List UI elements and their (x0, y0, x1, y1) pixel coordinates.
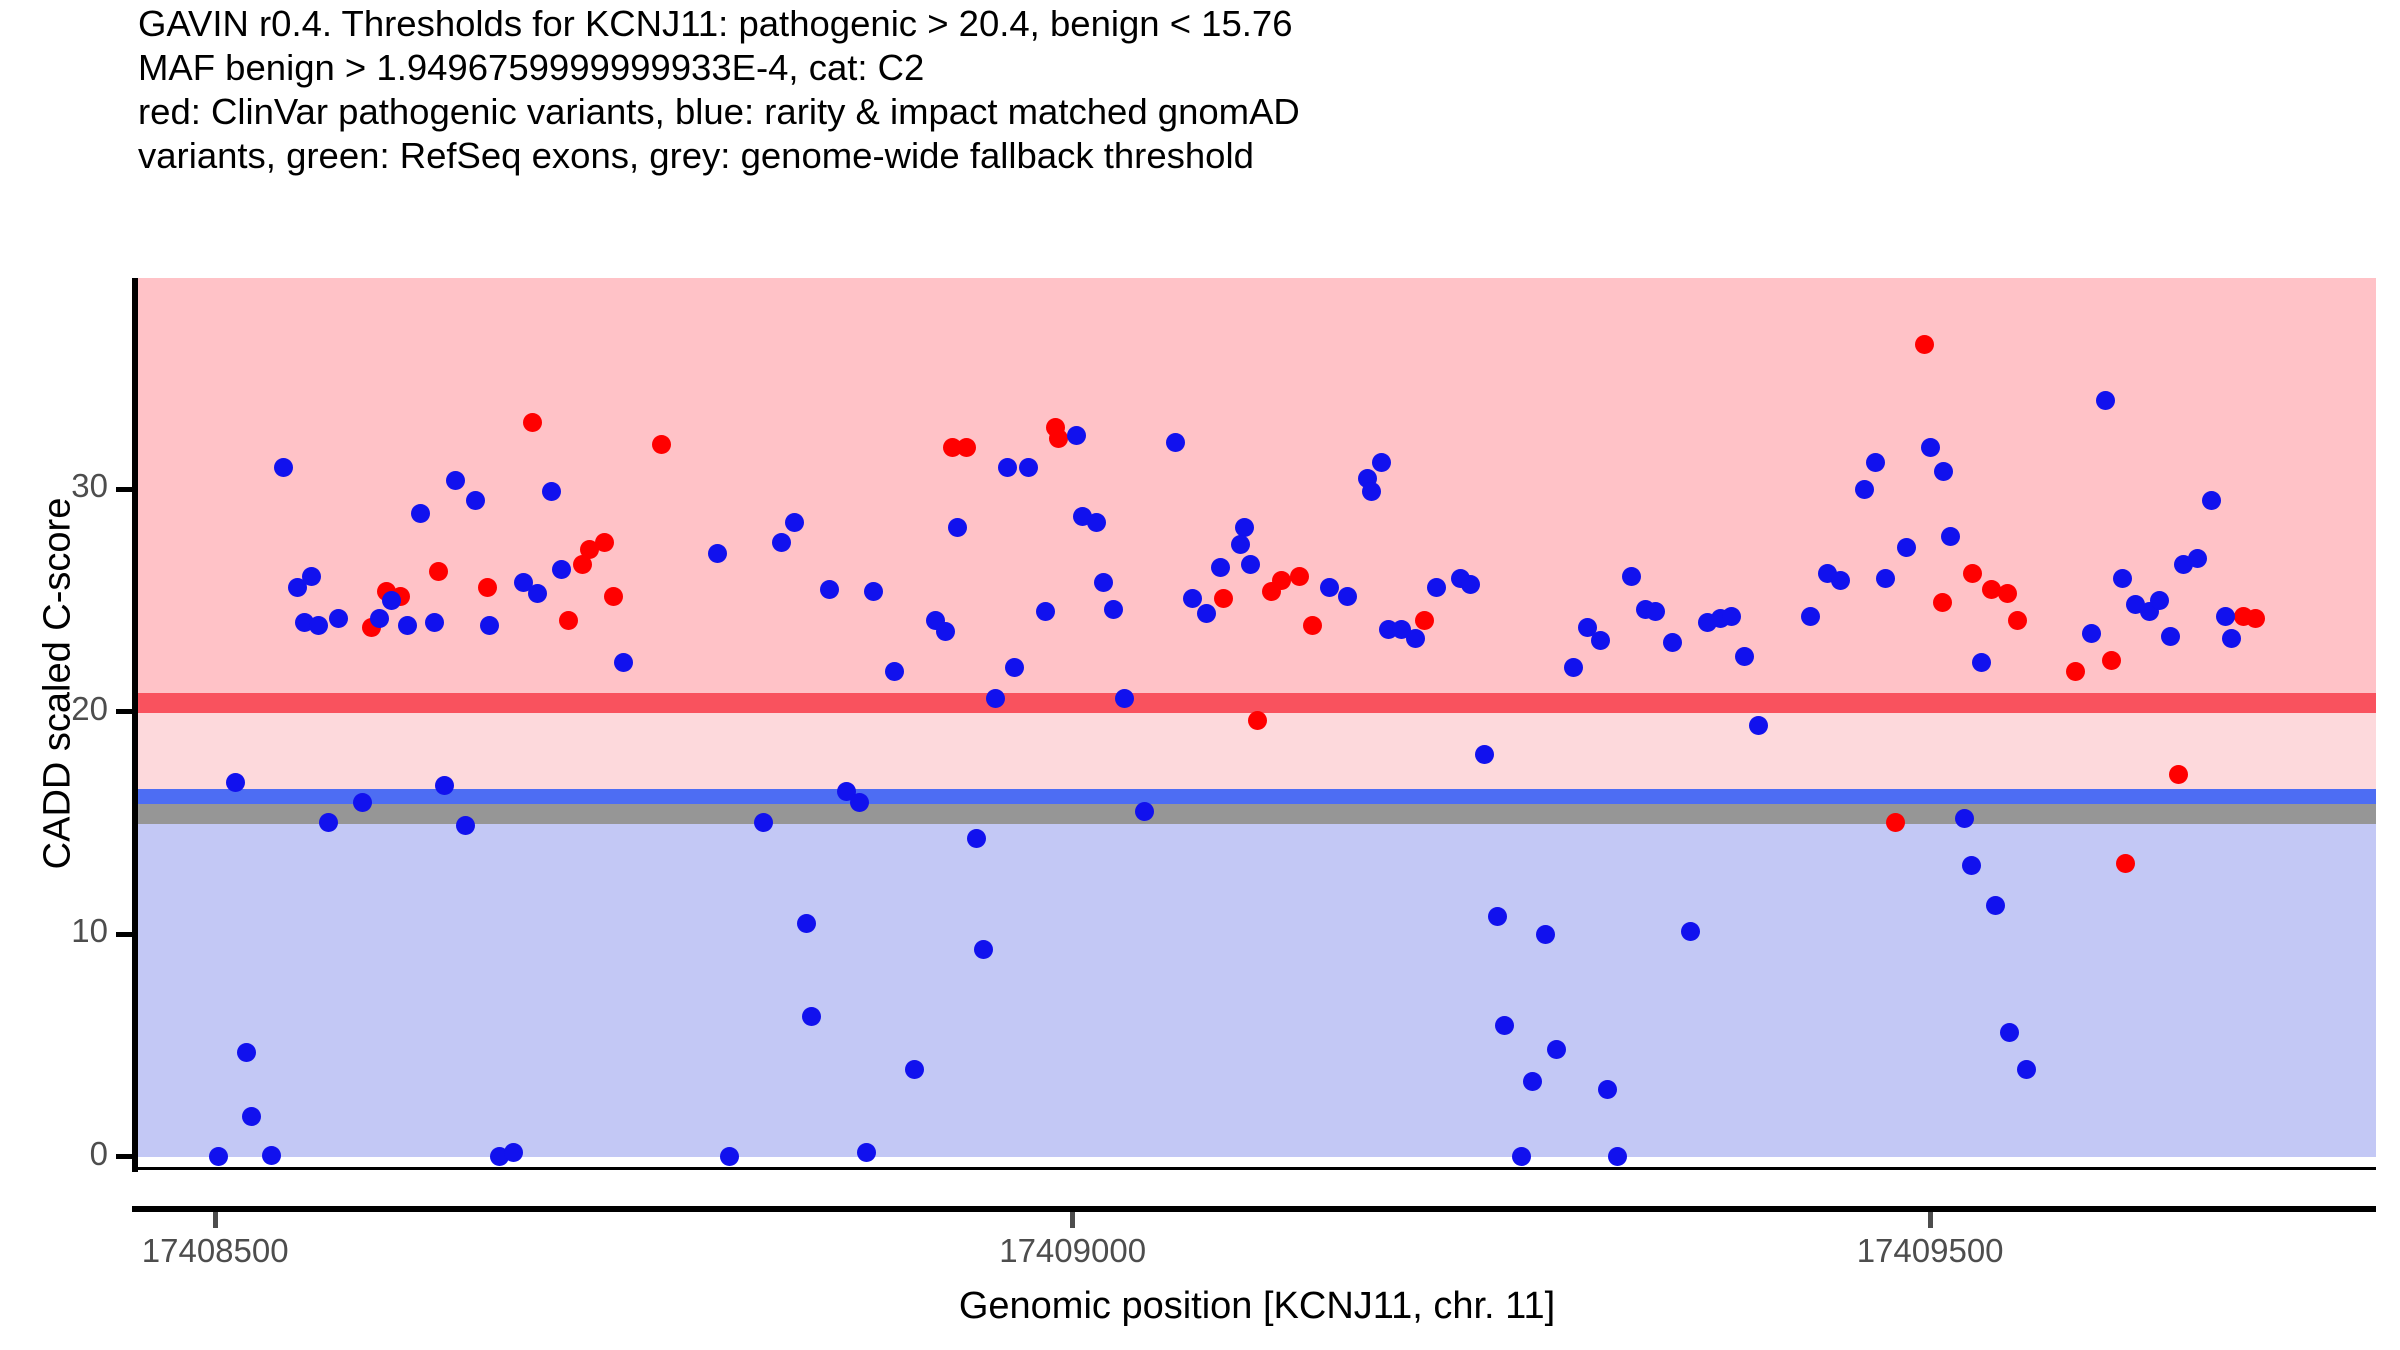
title-line-2: MAF benign > 1.9496759999999933E-4, cat:… (138, 46, 2378, 90)
gnomad-variant-point (1749, 716, 1768, 735)
x-axis-tick-label: 17408500 (142, 1232, 289, 1270)
x-axis-tick-label: 17409000 (999, 1232, 1146, 1270)
gnomad-variant-point (329, 609, 348, 628)
gnomad-variant-point (1941, 527, 1960, 546)
clinvar-pathogenic-point (573, 555, 592, 574)
gnomad-variant-point (1115, 689, 1134, 708)
gnomad-variant-point (446, 471, 465, 490)
gnomad-variant-point (2161, 627, 2180, 646)
gnomad-variant-point (456, 816, 475, 835)
gnomad-variant-point (1523, 1072, 1542, 1091)
panel-bottom-rule (138, 1167, 2376, 1170)
x-axis-tick (213, 1212, 218, 1228)
gnomad-variant-point (1608, 1147, 1627, 1166)
gnomad-variant-point (398, 616, 417, 635)
y-axis-tick-label: 0 (0, 1135, 108, 1173)
gnomad-variant-point (885, 662, 904, 681)
y-axis-tick (116, 709, 132, 714)
plot-area (138, 278, 2376, 1170)
y-axis-line (132, 278, 138, 1172)
clinvar-pathogenic-point (652, 435, 671, 454)
gnomad-variant-point (1622, 567, 1641, 586)
gnomad-variant-point (1547, 1040, 1566, 1059)
y-axis-tick (116, 1154, 132, 1159)
clinvar-pathogenic-point (1290, 567, 1309, 586)
gnomad-variant-point (1876, 569, 1895, 588)
gnomad-variant-point (772, 533, 791, 552)
gnomad-variant-point (1019, 458, 1038, 477)
gnomad-variant-point (1722, 607, 1741, 626)
gnomad-variant-point (542, 482, 561, 501)
chart-title-block: GAVIN r0.4. Thresholds for KCNJ11: patho… (138, 2, 2378, 178)
gnomad-variant-point (274, 458, 293, 477)
gnomad-variant-point (237, 1043, 256, 1062)
clinvar-pathogenic-point (1998, 584, 2017, 603)
title-line-1: GAVIN r0.4. Thresholds for KCNJ11: patho… (138, 2, 2378, 46)
gnomad-variant-point (1183, 589, 1202, 608)
gnomad-variant-point (1564, 658, 1583, 677)
clinvar-pathogenic-point (2008, 611, 2027, 630)
gnomad-variant-point (1955, 809, 1974, 828)
gnomad-variant-point (1235, 518, 1254, 537)
gnomad-variant-point (967, 829, 986, 848)
gnomad-variant-point (1005, 658, 1024, 677)
gnomad-variant-point (1166, 433, 1185, 452)
x-axis-line (132, 1206, 2376, 1212)
gnomad-variant-point (1921, 438, 1940, 457)
title-line-3: red: ClinVar pathogenic variants, blue: … (138, 90, 2378, 134)
gnomad-variant-point (2096, 391, 2115, 410)
gnomad-variant-point (1036, 602, 1055, 621)
gnomad-variant-point (1406, 629, 1425, 648)
clinvar-pathogenic-point (1933, 593, 1952, 612)
gnomad-variant-point (797, 914, 816, 933)
clinvar-pathogenic-point (1049, 429, 1068, 448)
gnomad-variant-point (1866, 453, 1885, 472)
benign-band (138, 824, 2376, 1157)
clinvar-pathogenic-point (604, 587, 623, 606)
gnomad-variant-point (1735, 647, 1754, 666)
gnomad-variant-point (1475, 745, 1494, 764)
gnomad-variant-point (480, 616, 499, 635)
gnomad-variant-point (2113, 569, 2132, 588)
clinvar-pathogenic-point (1415, 611, 1434, 630)
gnomad-variant-point (614, 653, 633, 672)
gnomad-variant-point (720, 1147, 739, 1166)
clinvar-pathogenic-point (2116, 854, 2135, 873)
gnomad-variant-point (1338, 587, 1357, 606)
gnomad-variant-point (857, 1143, 876, 1162)
clinvar-pathogenic-point (429, 562, 448, 581)
x-axis-tick (1070, 1212, 1075, 1228)
gnomad-variant-point (948, 518, 967, 537)
gnomad-variant-point (1801, 607, 1820, 626)
gnomad-variant-point (309, 616, 328, 635)
gnomad-variant-point (1362, 482, 1381, 501)
gnomad-variant-point (1681, 922, 1700, 941)
gnomad-variant-point (2017, 1060, 2036, 1079)
gnomad-variant-point (986, 689, 1005, 708)
clinvar-pathogenic-point (1214, 589, 1233, 608)
gnomad-variant-point (262, 1146, 281, 1165)
clinvar-pathogenic-point (559, 611, 578, 630)
gnomad-variant-point (2216, 607, 2235, 626)
gnomad-variant-point (1211, 558, 1230, 577)
gnomad-variant-point (552, 560, 571, 579)
gnomad-variant-point (1320, 578, 1339, 597)
clinvar-pathogenic-point (478, 578, 497, 597)
gnomad-variant-point (504, 1143, 523, 1162)
clinvar-pathogenic-point (523, 413, 542, 432)
gnomad-variant-point (209, 1147, 228, 1166)
clinvar-pathogenic-point (957, 438, 976, 457)
gnomad-variant-point (998, 458, 1017, 477)
pathogenic-threshold-line (138, 693, 2376, 713)
x-axis-tick (1928, 1212, 1933, 1228)
x-axis-title: Genomic position [KCNJ11, chr. 11] (138, 1285, 2376, 1328)
y-axis-title: CADD scaled C-score (37, 264, 80, 1104)
gnomad-variant-point (2000, 1023, 2019, 1042)
gnomad-variant-point (820, 580, 839, 599)
title-line-4: variants, green: RefSeq exons, grey: gen… (138, 134, 2378, 178)
gnomad-variant-point (1067, 426, 1086, 445)
gnomad-variant-point (1372, 453, 1391, 472)
gnomad-variant-point (302, 567, 321, 586)
gnomad-variant-point (2188, 549, 2207, 568)
clinvar-pathogenic-point (2169, 765, 2188, 784)
y-axis-tick (116, 487, 132, 492)
gnomad-variant-point (242, 1107, 261, 1126)
gnomad-variant-point (1986, 896, 2005, 915)
clinvar-pathogenic-point (1303, 616, 1322, 635)
gnomad-variant-point (2202, 491, 2221, 510)
plot-panel (138, 278, 2376, 1170)
x-axis-tick-label: 17409500 (1857, 1232, 2004, 1270)
y-axis-tick (116, 932, 132, 937)
gnomad-variant-point (370, 609, 389, 628)
gnomad-variant-point (1427, 578, 1446, 597)
gnomad-variant-point (1962, 856, 1981, 875)
gnomad-variant-point (1897, 538, 1916, 557)
gnomad-variant-point (1512, 1147, 1531, 1166)
